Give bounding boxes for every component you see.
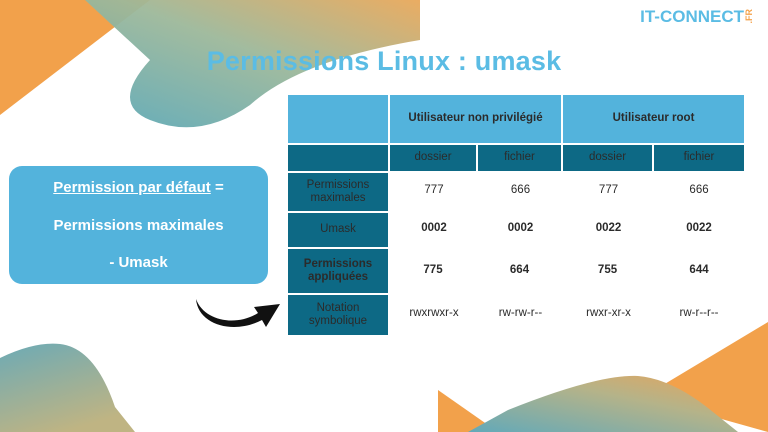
- callout-line-2: Permissions maximales: [19, 217, 258, 234]
- group-header-non-privileged: Utilisateur non privilégié: [390, 95, 563, 143]
- cell-max-fichier-root: 666: [654, 171, 744, 211]
- table-corner-blank: [288, 95, 390, 143]
- formula-callout-box: Permission par défaut = Permissions maxi…: [9, 166, 268, 284]
- decoration-bottom-left: [0, 312, 250, 432]
- cell-umask-dossier-user: 0002: [390, 211, 478, 247]
- cell-umask-fichier-user: 0002: [478, 211, 563, 247]
- cell-applied-dossier-user: 775: [390, 247, 478, 293]
- group-header-root: Utilisateur root: [563, 95, 744, 143]
- cell-applied-dossier-root: 755: [563, 247, 654, 293]
- table-subheader-row: dossier fichier dossier fichier: [288, 143, 744, 171]
- table-row-notation-symbolique: Notation symbolique rwxrwxr-x rw-rw-r-- …: [288, 293, 744, 335]
- logo-tld: .FR: [745, 9, 754, 24]
- row-label-permissions-maximales: Permissions maximales: [288, 171, 390, 211]
- row-label-umask: Umask: [288, 211, 390, 247]
- site-logo: IT-CONNECT .FR: [640, 8, 754, 25]
- curved-arrow-right-icon: [192, 283, 288, 329]
- callout-line-1-underlined: Permission par défaut: [53, 179, 211, 196]
- permissions-table: Utilisateur non privilégié Utilisateur r…: [288, 95, 744, 335]
- cell-applied-fichier-root: 644: [654, 247, 744, 293]
- subheader-fichier-2: fichier: [654, 143, 744, 171]
- table-row-permissions-appliquees: Permissions appliquées 775 664 755 644: [288, 247, 744, 293]
- cell-max-dossier-user: 777: [390, 171, 478, 211]
- subheader-dossier-2: dossier: [563, 143, 654, 171]
- callout-line-3: - Umask: [19, 254, 258, 271]
- row-label-permissions-appliquees: Permissions appliquées: [288, 247, 390, 293]
- table-row-permissions-maximales: Permissions maximales 777 666 777 666: [288, 171, 744, 211]
- table-header-group-row: Utilisateur non privilégié Utilisateur r…: [288, 95, 744, 143]
- row-label-notation-symbolique: Notation symbolique: [288, 293, 390, 335]
- subheader-dossier-1: dossier: [390, 143, 478, 171]
- table-row-umask: Umask 0002 0002 0022 0022: [288, 211, 744, 247]
- cell-sym-dossier-root: rwxr-xr-x: [563, 293, 654, 335]
- cell-sym-fichier-root: rw-r--r--: [654, 293, 744, 335]
- cell-applied-fichier-user: 664: [478, 247, 563, 293]
- logo-wordmark: IT-CONNECT: [640, 8, 744, 25]
- slide-canvas: IT-CONNECT .FR Permissions Linux : umask…: [0, 0, 768, 432]
- cell-sym-dossier-user: rwxrwxr-x: [390, 293, 478, 335]
- callout-line-1-tail: =: [211, 179, 224, 196]
- subheader-blank: [288, 143, 390, 171]
- cell-max-fichier-user: 666: [478, 171, 563, 211]
- cell-sym-fichier-user: rw-rw-r--: [478, 293, 563, 335]
- callout-line-1: Permission par défaut =: [19, 179, 258, 196]
- slide-title: Permissions Linux : umask: [0, 46, 768, 77]
- cell-max-dossier-root: 777: [563, 171, 654, 211]
- cell-umask-fichier-root: 0022: [654, 211, 744, 247]
- cell-umask-dossier-root: 0022: [563, 211, 654, 247]
- subheader-fichier-1: fichier: [478, 143, 563, 171]
